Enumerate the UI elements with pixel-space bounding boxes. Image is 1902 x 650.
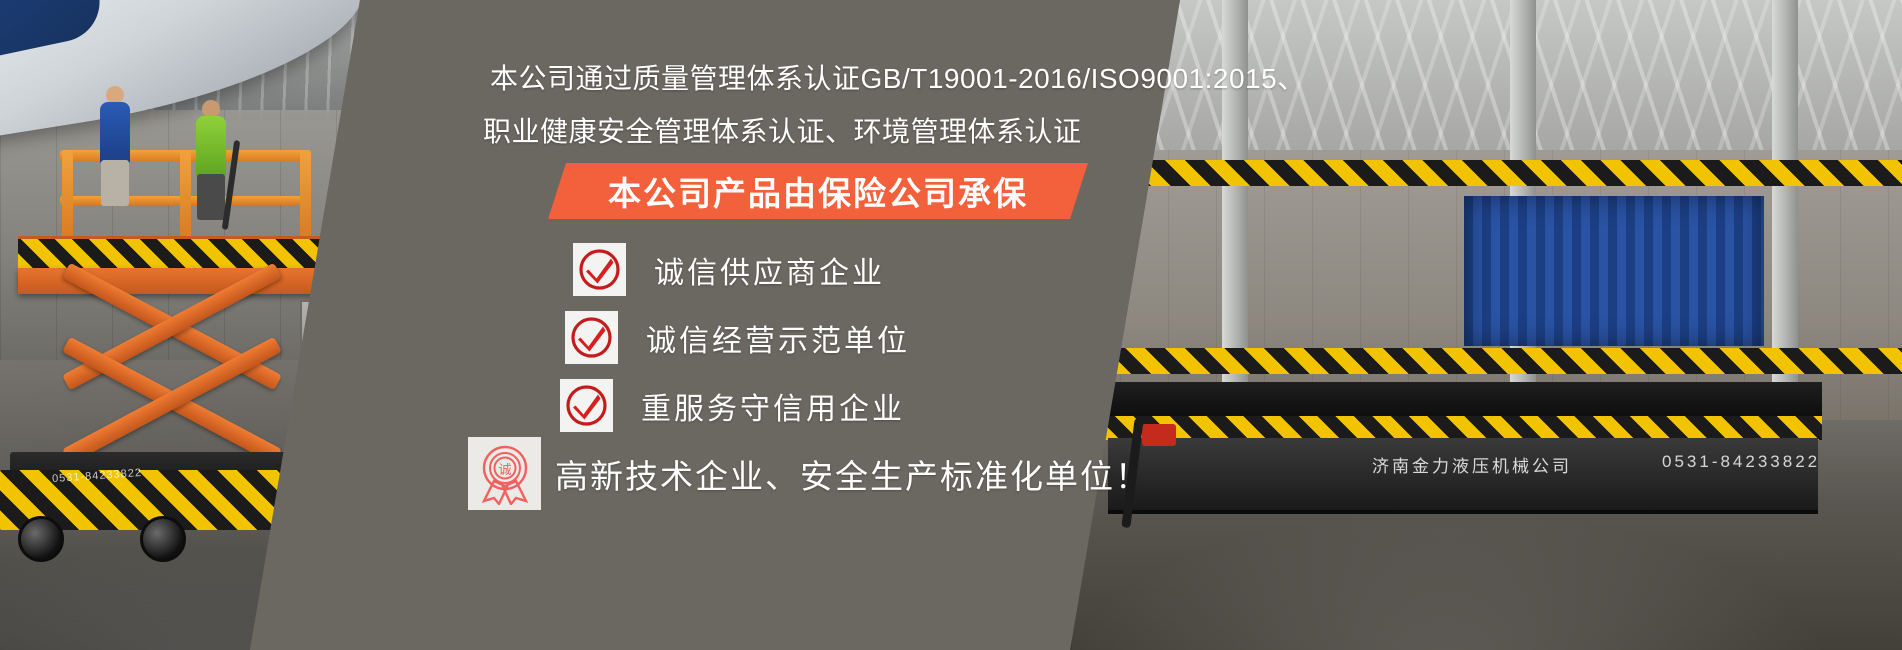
highlight-item-label: 高新技术企业、安全生产标准化单位！ (555, 450, 1150, 498)
list-item: 诚信经营示范单位 (565, 311, 910, 364)
check-circle-icon (573, 243, 626, 296)
medal-glyph: 诚 (498, 463, 511, 478)
highlight-item: 诚 高新技术企业、安全生产标准化单位！ (468, 437, 1150, 510)
list-item-label: 诚信供应商企业 (654, 248, 885, 292)
list-item-label: 诚信经营示范单位 (646, 316, 910, 360)
promo-banner: 0531-84233822 济南金力液压机械公司 0531-84233822 本… (0, 0, 1902, 650)
headline-line-2: 职业健康安全管理体系认证、环境管理体系认证 (483, 110, 1082, 150)
list-item-label: 重服务守信用企业 (641, 384, 905, 428)
list-item: 重服务守信用企业 (560, 379, 905, 432)
list-item: 诚信供应商企业 (573, 243, 885, 296)
insurance-badge: 本公司产品由保险公司承保 (548, 163, 1088, 219)
check-circle-icon (565, 311, 618, 364)
ribbon-medal-icon: 诚 (468, 437, 541, 510)
headline-line-1: 本公司通过质量管理体系认证GB/T19001-2016/ISO9001:2015… (490, 57, 1306, 97)
insurance-badge-label: 本公司产品由保险公司承保 (548, 163, 1088, 219)
banner-content: 本公司通过质量管理体系认证GB/T19001-2016/ISO9001:2015… (0, 0, 1902, 650)
check-circle-icon (560, 379, 613, 432)
